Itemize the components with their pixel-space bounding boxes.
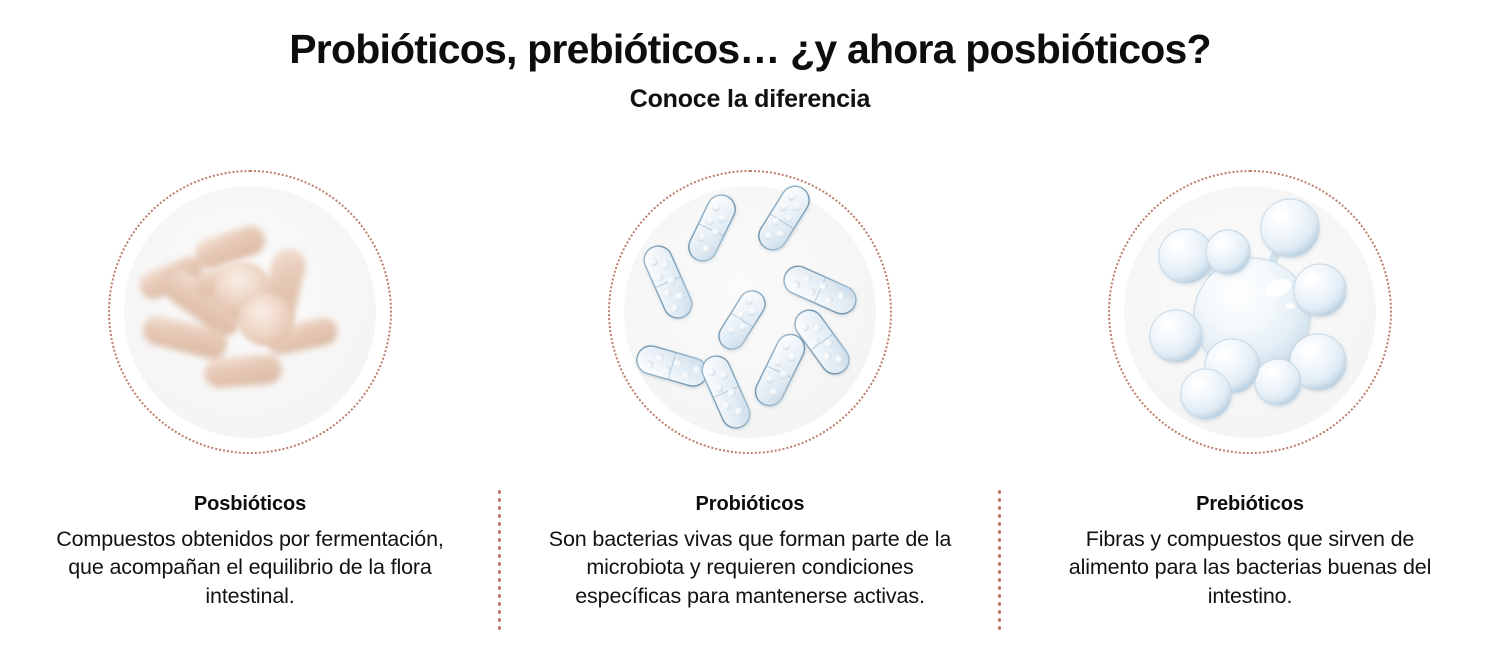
illustration-posbioticos <box>108 170 392 454</box>
card-body: Son bacterias vivas que forman parte de … <box>535 525 965 610</box>
illustration-probioticos <box>608 170 892 454</box>
card-title: Probióticos <box>514 492 986 516</box>
caption-prebioticos: Prebióticos Fibras y compuestos que sirv… <box>1000 492 1500 610</box>
molecule-spheres-icon <box>1108 170 1392 454</box>
card-body: Fibras y compuestos que sirven de alimen… <box>1050 525 1450 610</box>
page-title: Probióticos, prebióticos… ¿y ahora posbi… <box>0 26 1500 73</box>
probiotic-capsules-icon <box>608 170 892 454</box>
caption-posbioticos: Posbióticos Compuestos obtenidos por fer… <box>0 492 500 610</box>
illustration-prebioticos <box>1108 170 1392 454</box>
card-title: Posbióticos <box>14 492 486 516</box>
column-group: Posbióticos Compuestos obtenidos por fer… <box>0 160 1500 664</box>
card-prebioticos: Prebióticos Fibras y compuestos que sirv… <box>1000 160 1500 664</box>
card-probioticos: Probióticos Son bacterias vivas que form… <box>500 160 1000 664</box>
header: Probióticos, prebióticos… ¿y ahora posbi… <box>0 0 1500 114</box>
card-title: Prebióticos <box>1014 492 1486 516</box>
card-body: Compuestos obtenidos por fermentación, q… <box>54 525 446 610</box>
bacteria-rods-icon <box>108 170 392 454</box>
card-posbioticos: Posbióticos Compuestos obtenidos por fer… <box>0 160 500 664</box>
caption-probioticos: Probióticos Son bacterias vivas que form… <box>500 492 1000 610</box>
page-subtitle: Conoce la diferencia <box>0 85 1500 114</box>
infographic-root: Probióticos, prebióticos… ¿y ahora posbi… <box>0 0 1500 664</box>
